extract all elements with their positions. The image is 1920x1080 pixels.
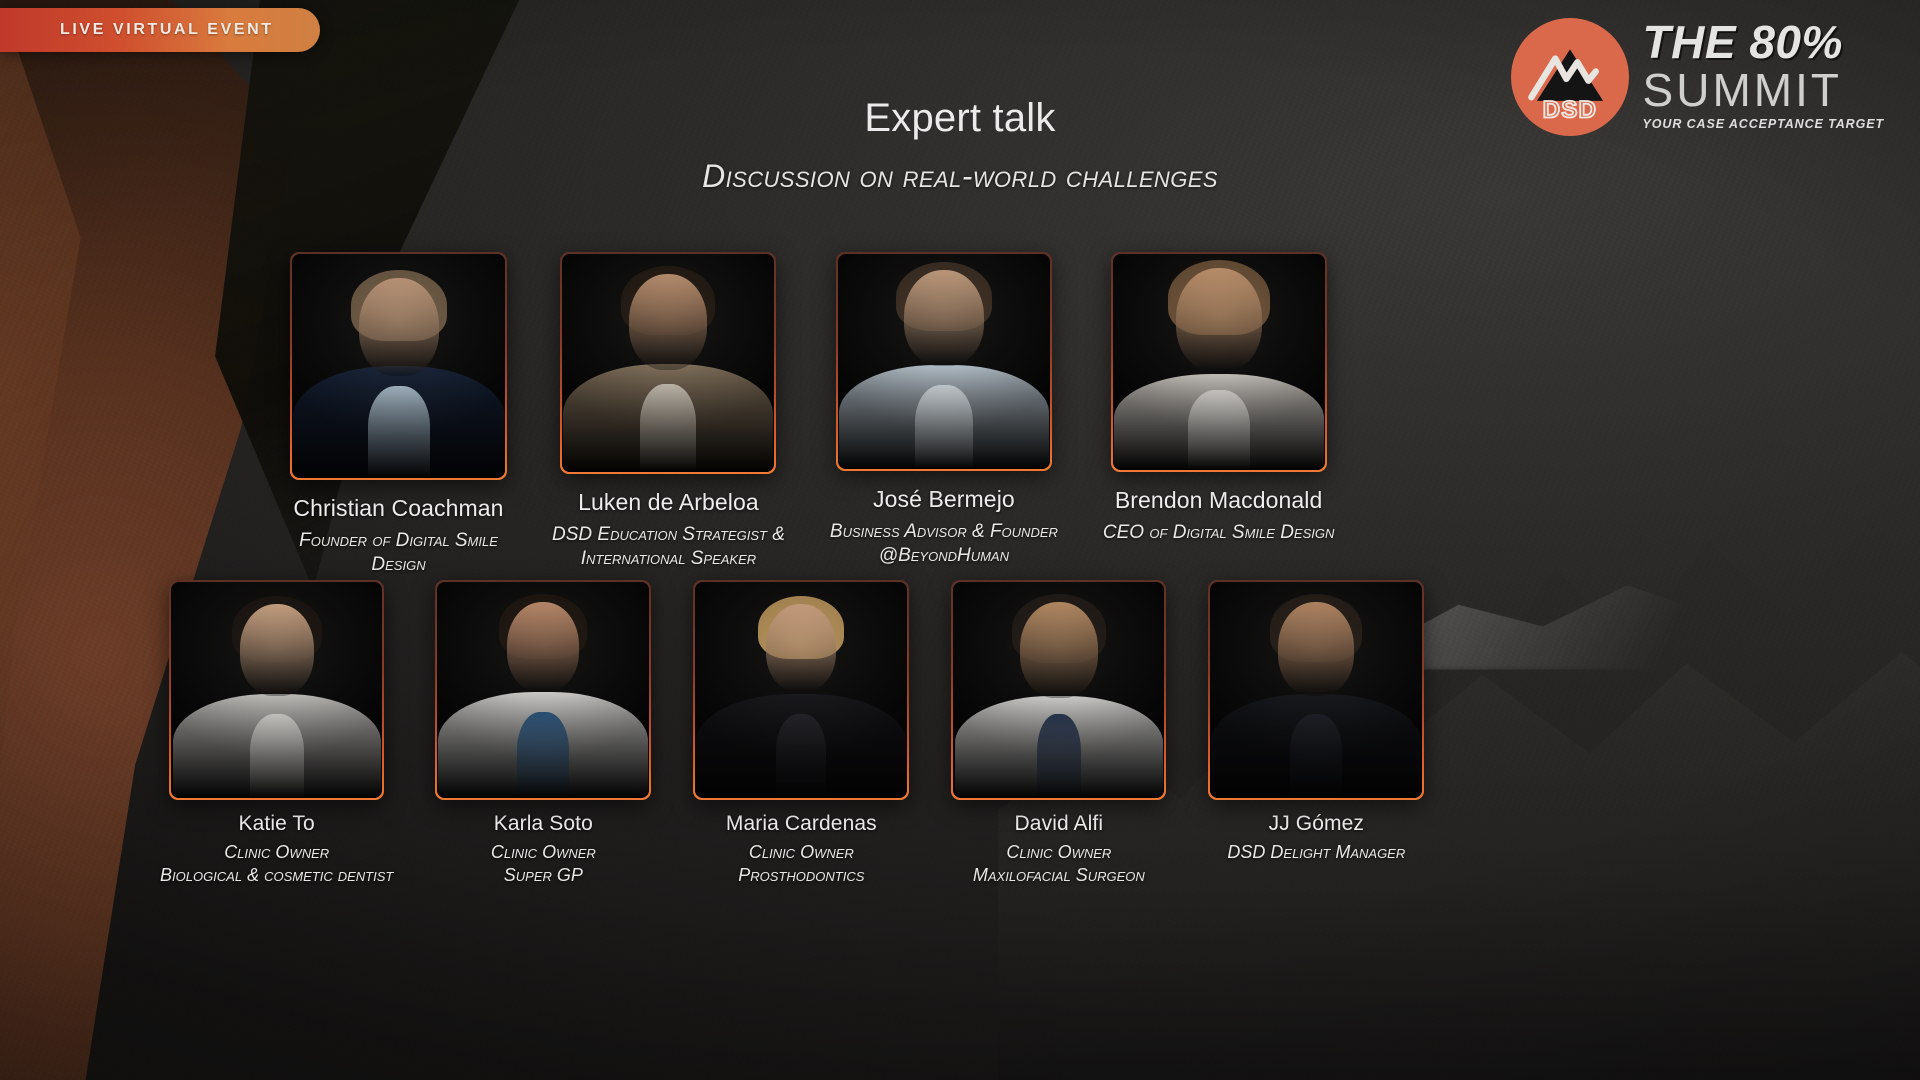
summit-logo-line1: THE 80% xyxy=(1643,19,1884,65)
speaker-photo-frame xyxy=(435,580,651,800)
speaker-card[interactable]: Karla SotoClinic OwnerSuper GP xyxy=(435,580,651,887)
speaker-role: CEO of Digital Smile Design xyxy=(1103,521,1334,545)
speaker-name: JJ Gómez xyxy=(1269,812,1364,836)
speaker-card[interactable]: Katie ToClinic OwnerBiological & cosmeti… xyxy=(160,580,393,887)
speaker-name: Katie To xyxy=(239,812,315,836)
speaker-role: Clinic OwnerMaxilofacial Surgeon xyxy=(973,841,1145,887)
speaker-name: José Bermejo xyxy=(873,486,1015,513)
speaker-name: Maria Cardenas xyxy=(726,812,877,836)
speaker-role-line: Business Advisor & Founder xyxy=(830,520,1058,544)
speaker-photo-frame xyxy=(1208,580,1424,800)
speaker-role-line: Super GP xyxy=(491,864,596,887)
speaker-role-line: Biological & cosmetic dentist xyxy=(160,864,393,887)
speaker-role: Clinic OwnerProsthodontics xyxy=(738,841,864,887)
speaker-role-line: Clinic Owner xyxy=(491,841,596,864)
speaker-name: Karla Soto xyxy=(494,812,593,836)
speaker-card[interactable]: Christian CoachmanFounder of Digital Smi… xyxy=(290,252,507,578)
speaker-role-line: Clinic Owner xyxy=(160,841,393,864)
speaker-role-line: DSD Education Strategist & xyxy=(552,523,785,547)
speaker-role-line: @BeyondHuman xyxy=(830,544,1058,568)
speaker-photo xyxy=(171,582,382,798)
speaker-photo-frame xyxy=(290,252,507,480)
speaker-card[interactable]: Maria CardenasClinic OwnerProsthodontics xyxy=(693,580,909,887)
speaker-photo xyxy=(1210,582,1422,798)
speaker-photo xyxy=(695,582,907,798)
speaker-role-line: International Speaker xyxy=(552,547,785,571)
speaker-name: Christian Coachman xyxy=(293,495,503,522)
speaker-photo xyxy=(1113,254,1325,470)
speaker-photo xyxy=(292,254,505,478)
live-event-badge: LIVE VIRTUAL EVENT xyxy=(0,8,320,52)
speaker-photo xyxy=(953,582,1164,798)
speaker-role-line: Prosthodontics xyxy=(738,864,864,887)
speaker-card[interactable]: José BermejoBusiness Advisor & Founder@B… xyxy=(830,252,1058,569)
page-subtitle: Discussion on real-world challenges xyxy=(0,158,1920,195)
speaker-role-line: Clinic Owner xyxy=(973,841,1145,864)
speaker-name: Brendon Macdonald xyxy=(1115,487,1323,514)
page-title: Expert talk xyxy=(0,96,1920,141)
speaker-card[interactable]: JJ GómezDSD Delight Manager xyxy=(1208,580,1424,864)
speaker-row-clinicians: Katie ToClinic OwnerBiological & cosmeti… xyxy=(160,580,1424,887)
speaker-role: DSD Education Strategist &International … xyxy=(552,523,785,572)
speaker-role-line: Maxilofacial Surgeon xyxy=(973,864,1145,887)
speaker-photo-frame xyxy=(560,252,776,474)
speaker-role: DSD Delight Manager xyxy=(1227,841,1405,864)
speaker-photo-frame xyxy=(693,580,909,800)
speaker-row-featured: Christian CoachmanFounder of Digital Smi… xyxy=(290,252,1334,578)
speaker-card[interactable]: Brendon MacdonaldCEO of Digital Smile De… xyxy=(1103,252,1334,545)
speaker-card[interactable]: Luken de ArbeloaDSD Education Strategist… xyxy=(552,252,785,572)
speaker-role: Clinic OwnerSuper GP xyxy=(491,841,596,887)
speaker-role-line: Design xyxy=(299,553,498,577)
speaker-name: Luken de Arbeloa xyxy=(578,489,759,516)
speaker-role-line: Founder of Digital Smile xyxy=(299,529,498,553)
live-event-badge-label: LIVE VIRTUAL EVENT xyxy=(60,21,274,39)
speaker-name: David Alfi xyxy=(1015,812,1104,836)
speaker-role-line: CEO of Digital Smile Design xyxy=(1103,521,1334,545)
speaker-photo-frame xyxy=(836,252,1052,471)
speaker-photo-frame xyxy=(1111,252,1327,472)
speaker-photo-frame xyxy=(169,580,384,800)
speaker-photo xyxy=(838,254,1050,469)
speaker-role-line: DSD Delight Manager xyxy=(1227,841,1405,864)
speaker-role-line: Clinic Owner xyxy=(738,841,864,864)
speaker-photo-frame xyxy=(951,580,1166,800)
speaker-role: Founder of Digital SmileDesign xyxy=(299,529,498,578)
speaker-role: Clinic OwnerBiological & cosmetic dentis… xyxy=(160,841,393,887)
speaker-photo xyxy=(562,254,774,472)
speaker-card[interactable]: David AlfiClinic OwnerMaxilofacial Surge… xyxy=(951,580,1166,887)
speaker-role: Business Advisor & Founder@BeyondHuman xyxy=(830,520,1058,569)
speaker-photo xyxy=(437,582,649,798)
